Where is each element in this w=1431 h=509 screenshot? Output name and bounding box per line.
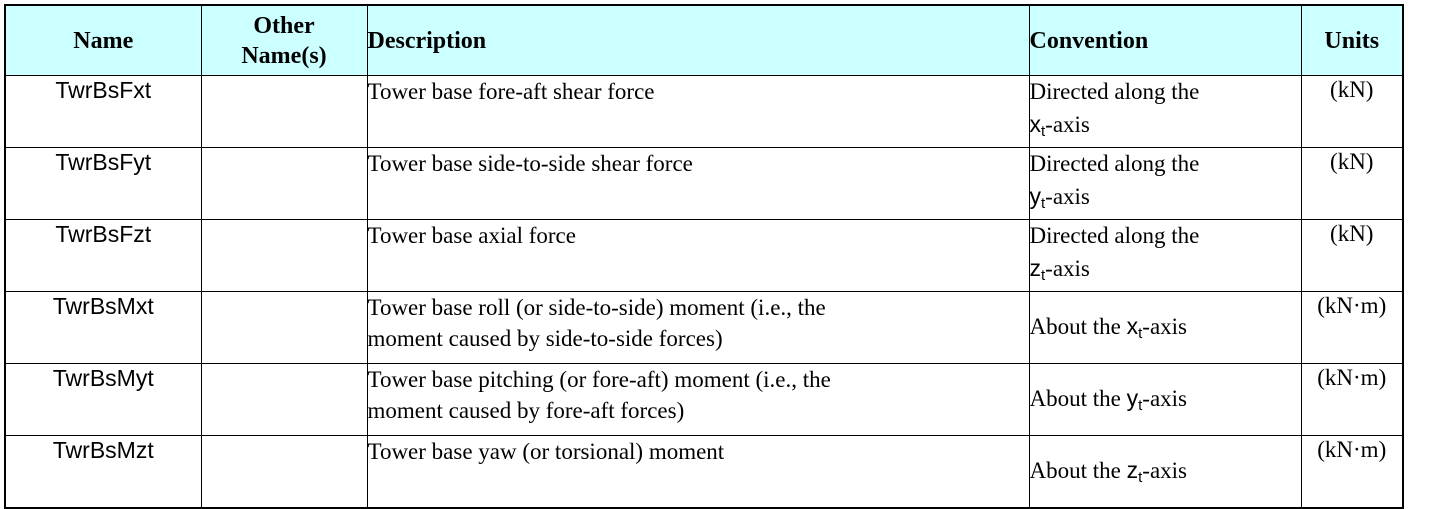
convention-axis: zt-axis: [1127, 458, 1187, 483]
column-header-convention: Convention: [1029, 5, 1301, 76]
convention-prefix: About the: [1030, 386, 1121, 411]
convention-prefix: Directed along the: [1030, 220, 1301, 252]
convention-prefix: About the: [1030, 458, 1121, 483]
convention-axis: yt-axis: [1127, 386, 1187, 411]
axis-subscript: t: [1041, 195, 1045, 212]
axis-symbol: xt: [1030, 111, 1046, 137]
cell-units: (kN): [1301, 148, 1403, 220]
column-header-other-names: Other Name(s): [201, 5, 367, 76]
description-line-2: moment caused by side-to-side forces): [368, 323, 1029, 354]
axis-letter: z: [1127, 457, 1139, 483]
cell-convention: Directed along the yt-axis: [1029, 148, 1301, 220]
description-line: Tower base yaw (or torsional) moment: [368, 436, 1029, 467]
cell-other-names: [201, 364, 367, 436]
cell-other-names: [201, 292, 367, 364]
cell-units: (kN): [1301, 76, 1403, 148]
axis-suffix: -axis: [1045, 184, 1090, 209]
axis-suffix: -axis: [1142, 458, 1187, 483]
cell-name: TwrBsMyt: [5, 364, 201, 436]
axis-suffix: -axis: [1142, 314, 1187, 339]
axis-suffix: -axis: [1045, 256, 1090, 281]
convention-prefix: About the: [1030, 314, 1121, 339]
cell-other-names: [201, 76, 367, 148]
cell-units: (kN·m): [1301, 436, 1403, 509]
description-line: Tower base axial force: [368, 220, 1029, 251]
convention-axis: xt-axis: [1127, 314, 1187, 339]
table-row: TwrBsMyt Tower base pitching (or fore-af…: [5, 364, 1403, 436]
convention-axis: xt-axis: [1030, 108, 1301, 144]
convention-axis: zt-axis: [1030, 252, 1301, 288]
cell-description: Tower base pitching (or fore-aft) moment…: [367, 364, 1029, 436]
cell-description: Tower base side-to-side shear force: [367, 148, 1029, 220]
tower-base-outputs-table: Name Other Name(s) Description Conventio…: [4, 4, 1404, 509]
column-header-name: Name: [5, 5, 201, 76]
convention-prefix: Directed along the: [1030, 148, 1301, 180]
axis-letter: x: [1127, 313, 1139, 339]
outputs-table-container: Name Other Name(s) Description Conventio…: [4, 4, 1402, 509]
cell-name: TwrBsMzt: [5, 436, 201, 509]
cell-name: TwrBsMxt: [5, 292, 201, 364]
axis-suffix: -axis: [1045, 112, 1090, 137]
cell-description: Tower base fore-aft shear force: [367, 76, 1029, 148]
axis-subscript: t: [1138, 397, 1142, 414]
convention-axis: yt-axis: [1030, 180, 1301, 216]
table-row: TwrBsFxt Tower base fore-aft shear force…: [5, 76, 1403, 148]
axis-letter: y: [1127, 385, 1139, 411]
cell-name: TwrBsFyt: [5, 148, 201, 220]
column-header-description: Description: [367, 5, 1029, 76]
table-row: TwrBsMxt Tower base roll (or side-to-sid…: [5, 292, 1403, 364]
cell-convention: Directed along the xt-axis: [1029, 76, 1301, 148]
axis-letter: y: [1030, 183, 1042, 209]
axis-subscript: t: [1041, 123, 1045, 140]
cell-name: TwrBsFxt: [5, 76, 201, 148]
axis-symbol: yt: [1127, 385, 1143, 411]
table-row: TwrBsMzt Tower base yaw (or torsional) m…: [5, 436, 1403, 509]
cell-convention: Directed along the zt-axis: [1029, 220, 1301, 292]
table-row: TwrBsFyt Tower base side-to-side shear f…: [5, 148, 1403, 220]
cell-units: (kN·m): [1301, 292, 1403, 364]
axis-symbol: xt: [1127, 313, 1143, 339]
cell-description: Tower base yaw (or torsional) moment: [367, 436, 1029, 509]
axis-suffix: -axis: [1142, 386, 1187, 411]
cell-description: Tower base roll (or side-to-side) moment…: [367, 292, 1029, 364]
axis-subscript: t: [1138, 469, 1142, 486]
cell-other-names: [201, 436, 367, 509]
column-header-units: Units: [1301, 5, 1403, 76]
axis-subscript: t: [1138, 325, 1142, 342]
description-line-2: moment caused by fore-aft forces): [368, 395, 1029, 426]
table-header-row: Name Other Name(s) Description Conventio…: [5, 5, 1403, 76]
cell-convention: About the xt-axis: [1029, 292, 1301, 364]
axis-symbol: zt: [1127, 457, 1143, 483]
axis-symbol: yt: [1030, 183, 1046, 209]
table-row: TwrBsFzt Tower base axial force Directed…: [5, 220, 1403, 292]
description-line: Tower base side-to-side shear force: [368, 148, 1029, 179]
convention-prefix: Directed along the: [1030, 76, 1301, 108]
cell-description: Tower base axial force: [367, 220, 1029, 292]
axis-symbol: zt: [1030, 255, 1046, 281]
cell-name: TwrBsFzt: [5, 220, 201, 292]
cell-convention: About the yt-axis: [1029, 364, 1301, 436]
cell-convention: About the zt-axis: [1029, 436, 1301, 509]
description-line: Tower base fore-aft shear force: [368, 76, 1029, 107]
description-line: Tower base pitching (or fore-aft) moment…: [368, 364, 1029, 395]
axis-letter: x: [1030, 111, 1042, 137]
cell-other-names: [201, 148, 367, 220]
axis-subscript: t: [1041, 267, 1045, 284]
description-line: Tower base roll (or side-to-side) moment…: [368, 292, 1029, 323]
column-header-other-names-line2: Name(s): [202, 41, 367, 71]
cell-units: (kN): [1301, 220, 1403, 292]
cell-other-names: [201, 220, 367, 292]
column-header-other-names-line1: Other: [202, 11, 367, 41]
axis-letter: z: [1030, 255, 1042, 281]
cell-units: (kN·m): [1301, 364, 1403, 436]
